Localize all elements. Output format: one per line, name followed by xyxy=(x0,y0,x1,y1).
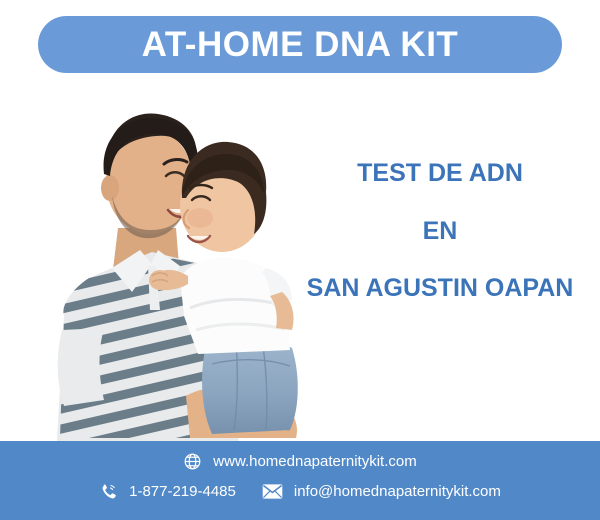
phone-icon xyxy=(99,482,118,501)
footer-email-item[interactable]: info@homednapaternitykit.com xyxy=(262,483,501,500)
footer-phone-item[interactable]: 1-877-219-4485 xyxy=(99,482,236,501)
page-title: AT-HOME DNA KIT xyxy=(142,27,459,62)
poster-canvas: AT-HOME DNA KIT xyxy=(0,0,600,520)
footer-contact-bar: www.homednapaternitykit.com 1-877-219-44… xyxy=(0,441,600,520)
header-banner: AT-HOME DNA KIT xyxy=(38,16,562,73)
headline-line-3: SAN AGUSTIN OAPAN xyxy=(290,275,590,303)
globe-icon xyxy=(183,452,202,471)
footer-phone-text: 1-877-219-4485 xyxy=(129,483,236,500)
footer-email-text: info@homednapaternitykit.com xyxy=(294,483,501,500)
headline-block: TEST DE ADN EN SAN AGUSTIN OAPAN xyxy=(290,160,590,303)
footer-row-phone-email: 1-877-219-4485 info@homednapaternitykit.… xyxy=(0,482,600,501)
headline-line-2: EN xyxy=(290,218,590,246)
footer-website-text: www.homednapaternitykit.com xyxy=(213,453,416,470)
hero-photo xyxy=(0,78,340,458)
footer-website-item[interactable]: www.homednapaternitykit.com xyxy=(183,452,416,471)
father-and-child-illustration xyxy=(0,78,340,458)
envelope-icon xyxy=(262,483,283,500)
headline-line-1: TEST DE ADN xyxy=(290,160,590,188)
footer-row-website: www.homednapaternitykit.com xyxy=(0,452,600,471)
